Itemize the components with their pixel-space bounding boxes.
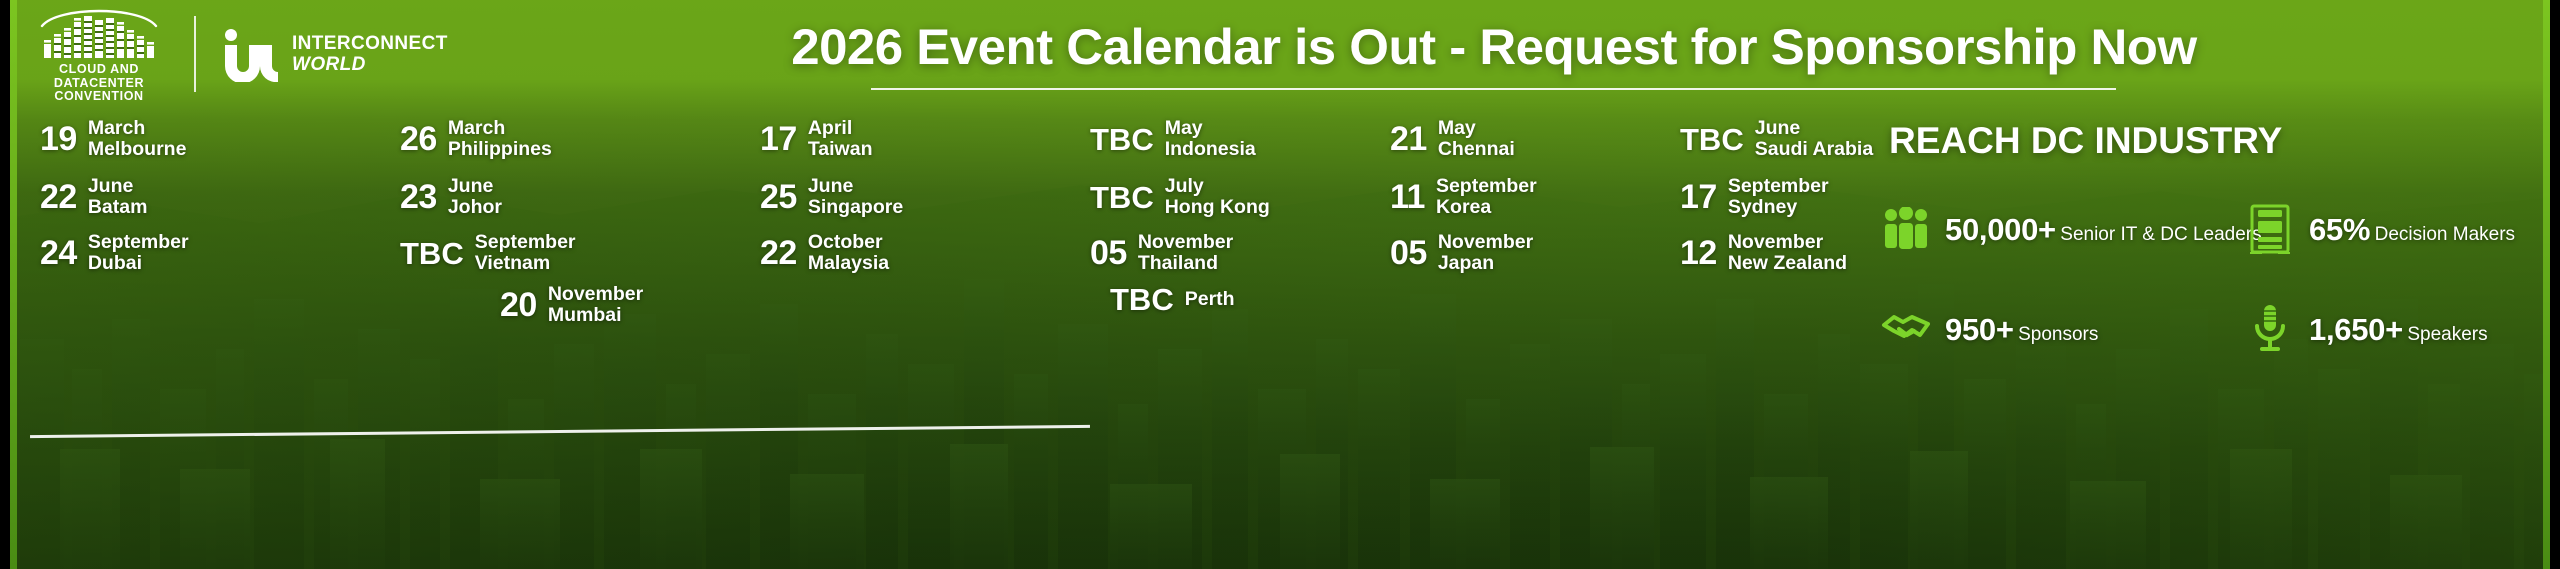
event-month: November — [1138, 232, 1233, 253]
event-date-item[interactable]: 11SeptemberKorea — [1390, 176, 1537, 218]
event-month: April — [808, 118, 873, 139]
stat-value: 65% — [2309, 212, 2370, 247]
event-month-location: Perth — [1185, 289, 1235, 310]
event-date-item[interactable]: 17AprilTaiwan — [760, 118, 872, 160]
event-month-location: JuneSingapore — [808, 176, 903, 218]
iw-wordmark-line-2: WORLD — [292, 54, 366, 75]
event-day: TBC — [1110, 284, 1174, 315]
event-date-item[interactable]: 05NovemberJapan — [1390, 232, 1533, 274]
event-day: 17 — [1680, 180, 1717, 214]
interconnect-world-logo[interactable]: INTERCONNECT WORLD — [222, 26, 448, 82]
event-date-item[interactable]: 26MarchPhilippines — [400, 118, 552, 160]
event-day: TBC — [1090, 124, 1154, 155]
stat-senior-leaders: 50,000+ Senior IT & DC Leaders — [1881, 204, 2262, 254]
event-location: Dubai — [88, 253, 189, 274]
stat-senior-leaders-text: 50,000+ Senior IT & DC Leaders — [1945, 213, 2262, 246]
event-location: Philippines — [448, 139, 552, 160]
title-underline-rule — [871, 88, 2116, 90]
event-day: 20 — [500, 288, 537, 322]
event-date-item[interactable]: 22OctoberMalaysia — [760, 232, 889, 274]
event-location: Singapore — [808, 197, 903, 218]
iw-wordmark-line-1: INTERCONNECT — [292, 33, 448, 54]
event-month-location: MarchPhilippines — [448, 118, 552, 160]
event-location: Johor — [448, 197, 502, 218]
event-date-item[interactable]: 20NovemberMumbai — [500, 284, 643, 326]
event-date-item[interactable]: 25JuneSingapore — [760, 176, 903, 218]
event-month: November — [548, 284, 643, 305]
event-location: Mumbai — [548, 305, 643, 326]
stat-decision-makers: 65% Decision Makers — [2245, 204, 2515, 254]
event-location: New Zealand — [1728, 253, 1847, 274]
left-black-edge — [0, 0, 10, 569]
stat-value: 50,000+ — [1945, 212, 2056, 247]
event-date-item[interactable]: 24SeptemberDubai — [40, 232, 189, 274]
event-month: September — [475, 232, 576, 253]
event-day: 26 — [400, 122, 437, 156]
event-date-item[interactable]: 22JuneBatam — [40, 176, 147, 218]
event-month: March — [88, 118, 187, 139]
event-location: Hong Kong — [1165, 197, 1270, 218]
event-month-location: SeptemberSydney — [1728, 176, 1829, 218]
event-date-item[interactable]: 19MarchMelbourne — [40, 118, 186, 160]
event-date-item[interactable]: TBCMayIndonesia — [1090, 118, 1256, 160]
page-title: 2026 Event Calendar is Out - Request for… — [791, 18, 2196, 76]
event-month-location: JuneJohor — [448, 176, 502, 218]
event-month-location: OctoberMalaysia — [808, 232, 889, 274]
event-month: October — [808, 232, 889, 253]
event-day: 22 — [760, 236, 797, 270]
event-month-location: NovemberNew Zealand — [1728, 232, 1847, 274]
event-day: 22 — [40, 180, 77, 214]
cdc-logo-wordmark: CLOUD AND DATACENTER CONVENTION — [54, 63, 144, 104]
event-month: May — [1165, 118, 1256, 139]
logo-divider — [194, 16, 196, 92]
event-location: Saudi Arabia — [1755, 139, 1873, 160]
event-location: Thailand — [1138, 253, 1233, 274]
event-month: May — [1438, 118, 1515, 139]
event-date-item[interactable]: TBCSeptemberVietnam — [400, 232, 576, 274]
event-day: 12 — [1680, 236, 1717, 270]
reach-title: REACH DC INDUSTRY — [1889, 120, 2282, 162]
event-location: Vietnam — [475, 253, 576, 274]
handshake-icon — [1881, 304, 1931, 354]
event-month-location: JuneBatam — [88, 176, 148, 218]
event-month-location: NovemberJapan — [1438, 232, 1533, 274]
event-date-item[interactable]: 21MayChennai — [1390, 118, 1515, 160]
event-location: Perth — [1185, 289, 1235, 310]
stat-value: 950+ — [1945, 312, 2014, 347]
reach-stats-panel: REACH DC INDUSTRY 50,000+ Senior IT & DC… — [1865, 108, 2560, 569]
event-month-location: MayChennai — [1438, 118, 1515, 160]
event-month: June — [448, 176, 502, 197]
event-month: June — [1755, 118, 1873, 139]
stat-sponsors: 950+ Sponsors — [1881, 304, 2098, 354]
event-month: November — [1728, 232, 1847, 253]
stat-value: 1,650+ — [2309, 312, 2403, 347]
event-day: TBC — [1680, 124, 1744, 155]
event-month: June — [808, 176, 903, 197]
event-date-item[interactable]: 12NovemberNew Zealand — [1680, 232, 1847, 274]
event-location: Indonesia — [1165, 139, 1256, 160]
event-month-location: NovemberThailand — [1138, 232, 1233, 274]
event-date-item[interactable]: TBCJulyHong Kong — [1090, 176, 1270, 218]
banner-content: 19MarchMelbourne26MarchPhilippines17Apri… — [0, 108, 2560, 569]
cdc-logo-line-2: DATACENTER — [54, 77, 144, 91]
event-location: Chennai — [1438, 139, 1515, 160]
right-green-accent-bar — [2543, 0, 2550, 569]
event-day: TBC — [1090, 182, 1154, 213]
cdc-logo-line-1: CLOUD AND — [54, 63, 144, 77]
event-location: Sydney — [1728, 197, 1829, 218]
event-month: September — [1728, 176, 1829, 197]
event-day: 17 — [760, 122, 797, 156]
event-location: Taiwan — [808, 139, 873, 160]
event-day: 21 — [1390, 122, 1427, 156]
cdc-buildings-icon — [38, 4, 160, 60]
cloud-datacenter-convention-logo[interactable]: CLOUD AND DATACENTER CONVENTION — [30, 4, 168, 104]
iw-monogram-icon — [222, 26, 280, 82]
stat-speakers-text: 1,650+ Speakers — [2309, 313, 2488, 346]
banner-header: CLOUD AND DATACENTER CONVENTION INTER — [0, 0, 2560, 108]
stat-sponsors-text: 950+ Sponsors — [1945, 313, 2098, 346]
event-day: TBC — [400, 238, 464, 269]
event-day: 25 — [760, 180, 797, 214]
banner-title-wrap: 2026 Event Calendar is Out - Request for… — [448, 18, 2560, 90]
event-location: Melbourne — [88, 139, 187, 160]
event-location: Japan — [1438, 253, 1533, 274]
event-day: 19 — [40, 122, 77, 156]
event-month-location: SeptemberVietnam — [475, 232, 576, 274]
event-date-item[interactable]: TBCJuneSaudi Arabia — [1680, 118, 1873, 160]
people-icon — [1881, 204, 1931, 254]
event-month-location: JuneSaudi Arabia — [1755, 118, 1873, 160]
cdc-logo-line-3: CONVENTION — [54, 90, 144, 104]
stat-label: Senior IT & DC Leaders — [2060, 224, 2261, 245]
event-day: 05 — [1090, 236, 1127, 270]
stat-decision-makers-text: 65% Decision Makers — [2309, 213, 2515, 246]
stat-label: Sponsors — [2018, 324, 2098, 345]
event-month: November — [1438, 232, 1533, 253]
event-month: September — [1436, 176, 1537, 197]
event-month: September — [88, 232, 189, 253]
event-month: July — [1165, 176, 1270, 197]
microphone-icon — [2245, 304, 2295, 354]
event-date-item[interactable]: 23JuneJohor — [400, 176, 502, 218]
event-location: Korea — [1436, 197, 1537, 218]
server-rack-icon — [2245, 204, 2295, 254]
event-month-location: MarchMelbourne — [88, 118, 187, 160]
stat-label: Speakers — [2407, 324, 2487, 345]
event-month-location: SeptemberKorea — [1436, 176, 1537, 218]
event-date-item[interactable]: TBCPerth — [1110, 284, 1235, 315]
event-day: 05 — [1390, 236, 1427, 270]
stat-speakers: 1,650+ Speakers — [2245, 304, 2488, 354]
right-black-edge — [2550, 0, 2560, 569]
event-location: Malaysia — [808, 253, 889, 274]
event-month-location: SeptemberDubai — [88, 232, 189, 274]
event-calendar-banner: CLOUD AND DATACENTER CONVENTION INTER — [0, 0, 2560, 569]
event-month-location: AprilTaiwan — [808, 118, 873, 160]
event-month: March — [448, 118, 552, 139]
event-month: June — [88, 176, 148, 197]
event-date-item[interactable]: 05NovemberThailand — [1090, 232, 1233, 274]
left-green-accent-bar — [10, 0, 17, 569]
event-location: Batam — [88, 197, 148, 218]
logo-lockup[interactable]: CLOUD AND DATACENTER CONVENTION INTER — [0, 0, 448, 108]
event-day: 24 — [40, 236, 77, 270]
event-date-item[interactable]: 17SeptemberSydney — [1680, 176, 1829, 218]
event-dates-panel: 19MarchMelbourne26MarchPhilippines17Apri… — [0, 108, 1865, 569]
event-month-location: JulyHong Kong — [1165, 176, 1270, 218]
stat-label: Decision Makers — [2375, 224, 2515, 245]
iw-wordmark: INTERCONNECT WORLD — [292, 33, 448, 75]
event-month-location: NovemberMumbai — [548, 284, 643, 326]
event-day: 23 — [400, 180, 437, 214]
event-month-location: MayIndonesia — [1165, 118, 1256, 160]
event-day: 11 — [1390, 180, 1425, 214]
